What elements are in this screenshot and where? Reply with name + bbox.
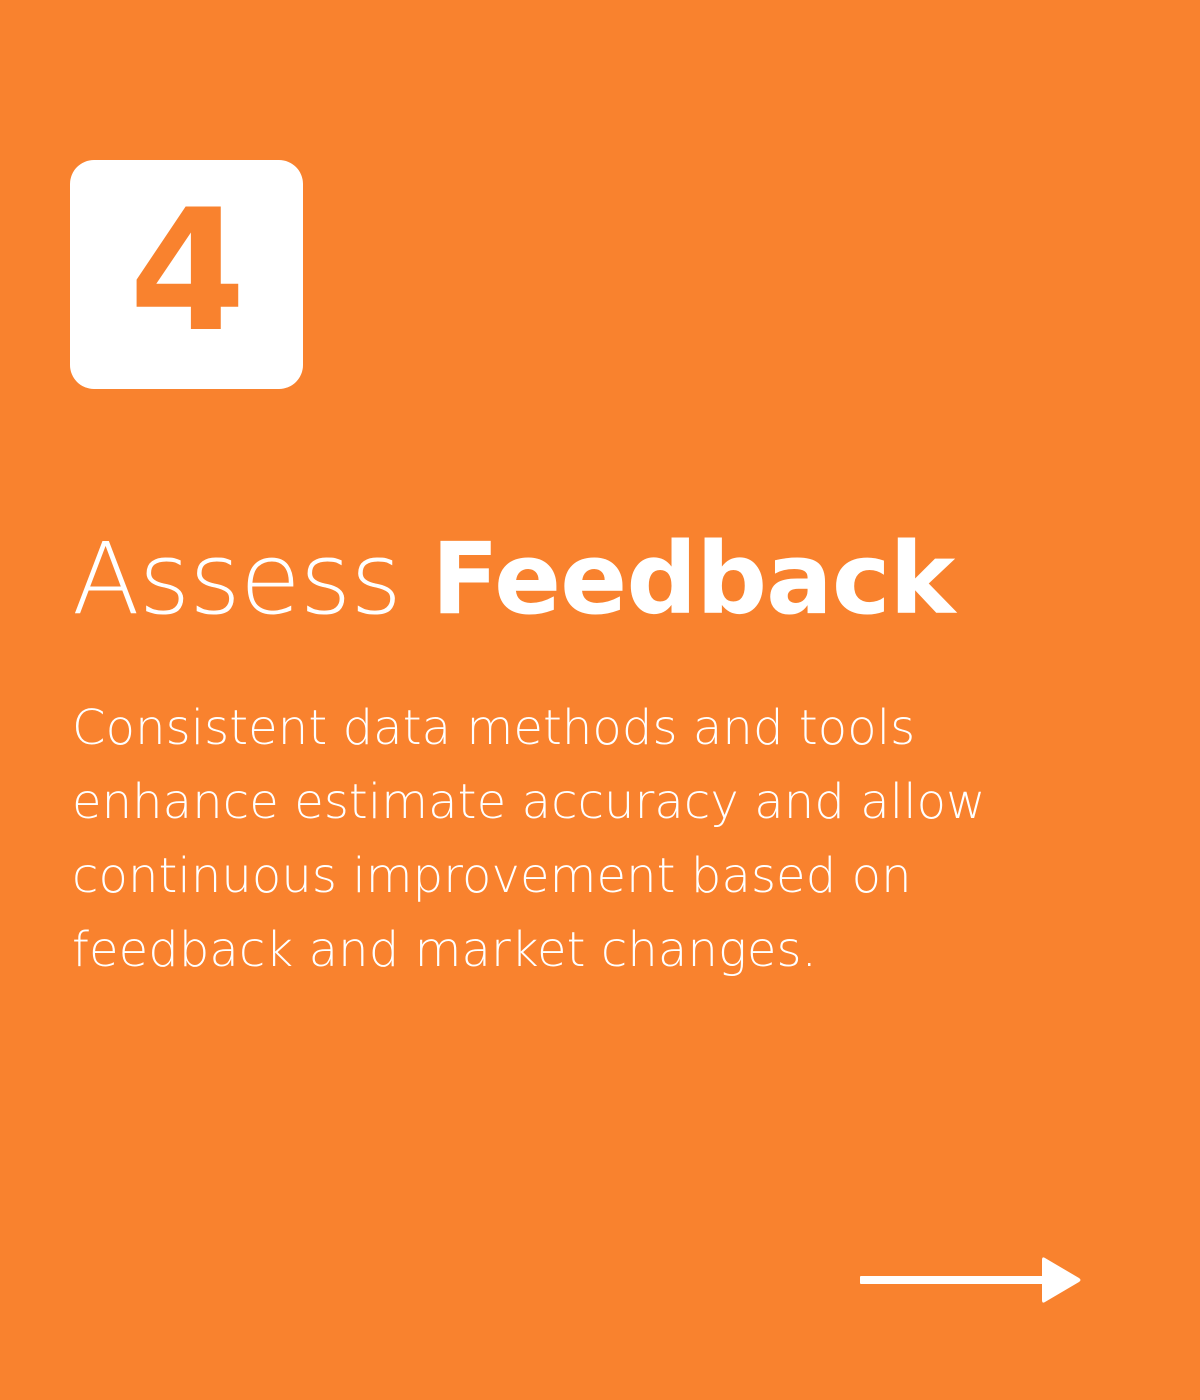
body-paragraph: Consistent data methods and tools enhanc…: [72, 691, 1077, 987]
step-number-label: 4: [129, 187, 244, 355]
page-title-bold: Feedback: [431, 522, 954, 637]
page-title-light: Assess: [72, 522, 431, 637]
step-card: 4 Assess Feedback Consistent data method…: [0, 0, 1200, 1400]
page-title: Assess Feedback: [72, 528, 1132, 633]
arrow-right-icon[interactable]: [860, 1256, 1082, 1304]
step-number-badge: 4: [70, 160, 303, 389]
